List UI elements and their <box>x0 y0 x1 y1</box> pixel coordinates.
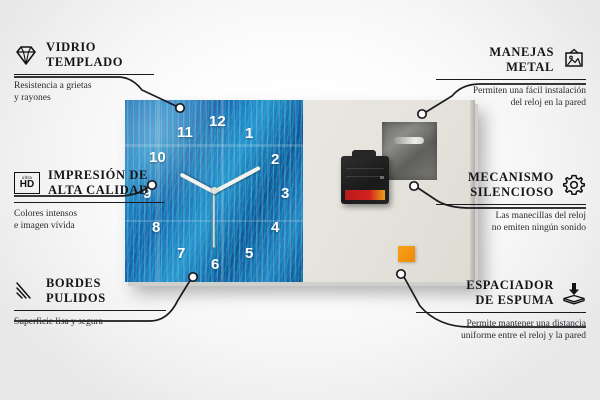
hanger-slot <box>394 137 424 144</box>
callout-polished-edges: BORDES PULIDOS Superficie lisa y segura <box>14 276 166 328</box>
mechanism-seam <box>346 176 384 177</box>
callout-header: BORDES PULIDOS <box>14 276 166 306</box>
callout-header: ultra HD IMPRESIÓN DE ALTA CALIDAD <box>14 168 164 198</box>
clock-numeral-1: 1 <box>245 126 253 141</box>
clock-numeral-4: 4 <box>271 220 279 235</box>
clock-numeral-2: 2 <box>271 152 279 167</box>
callout-title: VIDRIO TEMPLADO <box>46 40 123 70</box>
clock-numeral-11: 11 <box>177 125 193 140</box>
infographic-canvas: 12 1 2 3 4 5 6 7 8 9 10 11 <box>0 0 600 400</box>
callout-rule <box>14 310 166 311</box>
foam-spacer-part <box>398 246 415 262</box>
ultra-hd-icon: ultra HD <box>14 172 40 194</box>
callout-title: MANEJAS METAL <box>489 45 554 75</box>
clock-numeral-12: 12 <box>209 114 226 129</box>
callout-rule <box>436 204 586 205</box>
callout-foam-spacer: ESPACIADOR DE ESPUMA Permite mantener un… <box>416 278 586 343</box>
polished-edge-icon <box>14 279 38 303</box>
clock-numeral-6: 6 <box>211 257 219 272</box>
clock-center-pin <box>211 187 218 194</box>
callout-hd-print: ultra HD IMPRESIÓN DE ALTA CALIDAD Color… <box>14 168 164 233</box>
gear-icon <box>562 173 586 197</box>
callout-title: IMPRESIÓN DE ALTA CALIDAD <box>48 168 149 198</box>
arrow-down-pad-icon <box>562 281 586 305</box>
mechanism-label <box>345 190 385 200</box>
callout-header: VIDRIO TEMPLADO <box>14 40 154 70</box>
product-photo: 12 1 2 3 4 5 6 7 8 9 10 11 <box>125 100 475 282</box>
callout-rule <box>436 79 586 80</box>
grid-line <box>125 144 303 147</box>
diamond-icon <box>14 43 38 67</box>
quartz-mechanism-part <box>341 156 389 204</box>
callout-tempered-glass: VIDRIO TEMPLADO Resistencia a grietas y … <box>14 40 154 105</box>
clock-numeral-5: 5 <box>245 246 253 261</box>
clock-second-hand <box>213 192 215 248</box>
callout-rule <box>416 312 586 313</box>
mechanism-seam <box>346 168 384 169</box>
mechanism-tab <box>352 150 376 159</box>
callout-title: BORDES PULIDOS <box>46 276 106 306</box>
callout-header: ESPACIADOR DE ESPUMA <box>416 278 586 308</box>
callout-rule <box>14 202 164 203</box>
callout-title: ESPACIADOR DE ESPUMA <box>466 278 554 308</box>
metal-hanger-part <box>382 122 437 180</box>
mechanism-port <box>380 176 384 179</box>
callout-silent-mechanism: MECANISMO SILENCIOSO Las manecillas del … <box>436 170 586 235</box>
clock-numeral-3: 3 <box>281 186 289 201</box>
clock-numeral-7: 7 <box>177 246 185 261</box>
callout-metal-hangers: MANEJAS METAL Permiten una fácil instala… <box>436 45 586 110</box>
callout-rule <box>14 74 154 75</box>
callout-header: MECANISMO SILENCIOSO <box>436 170 586 200</box>
clock-numeral-10: 10 <box>149 150 166 165</box>
callout-header: MANEJAS METAL <box>436 45 586 75</box>
callout-title: MECANISMO SILENCIOSO <box>468 170 554 200</box>
picture-frame-icon <box>562 48 586 72</box>
